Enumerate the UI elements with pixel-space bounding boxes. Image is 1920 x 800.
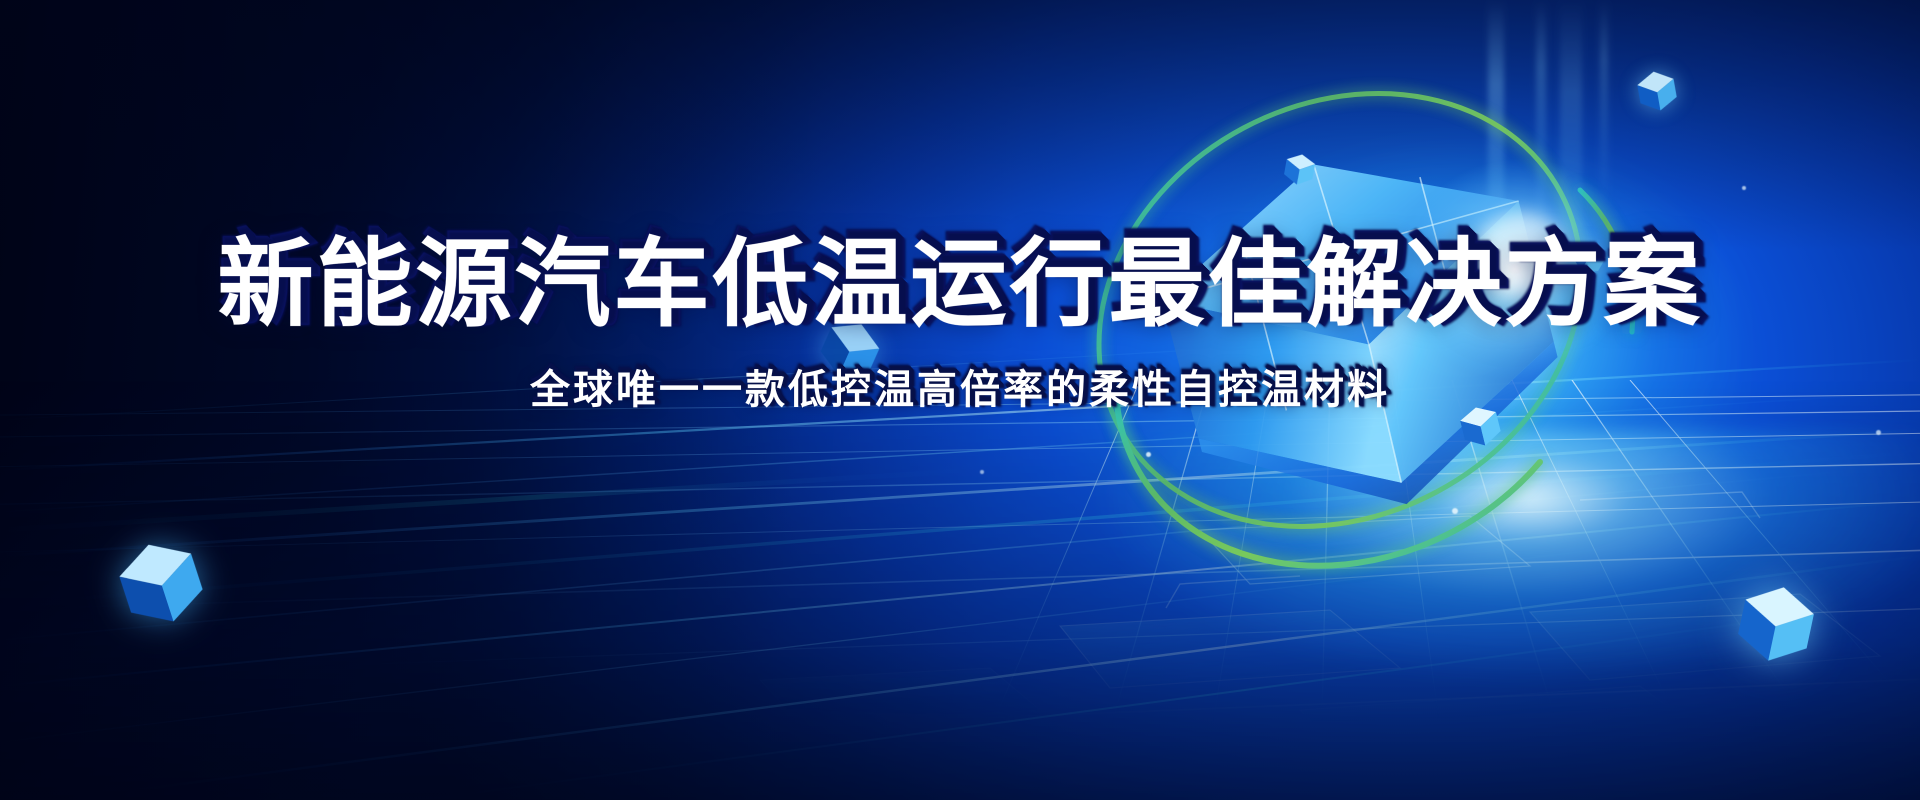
floating-cube-bottom-right	[1729, 577, 1824, 672]
banner-text-block: 新能源汽车低温运行最佳解决方案 全球唯一一款低控温高倍率的柔性自控温材料	[0, 236, 1920, 412]
sparkle-dot	[1146, 452, 1151, 457]
hero-banner: 新能源汽车低温运行最佳解决方案 全球唯一一款低控温高倍率的柔性自控温材料	[0, 0, 1920, 800]
floating-cube-top-right	[1633, 67, 1682, 116]
sparkle-dot	[980, 470, 984, 474]
sparkle-dot	[1876, 430, 1881, 435]
sparkle-dot	[1452, 508, 1458, 514]
banner-headline: 新能源汽车低温运行最佳解决方案	[0, 236, 1920, 334]
banner-subheadline: 全球唯一一款低控温高倍率的柔性自控温材料	[0, 368, 1920, 412]
sparkle-dot	[1742, 186, 1746, 190]
